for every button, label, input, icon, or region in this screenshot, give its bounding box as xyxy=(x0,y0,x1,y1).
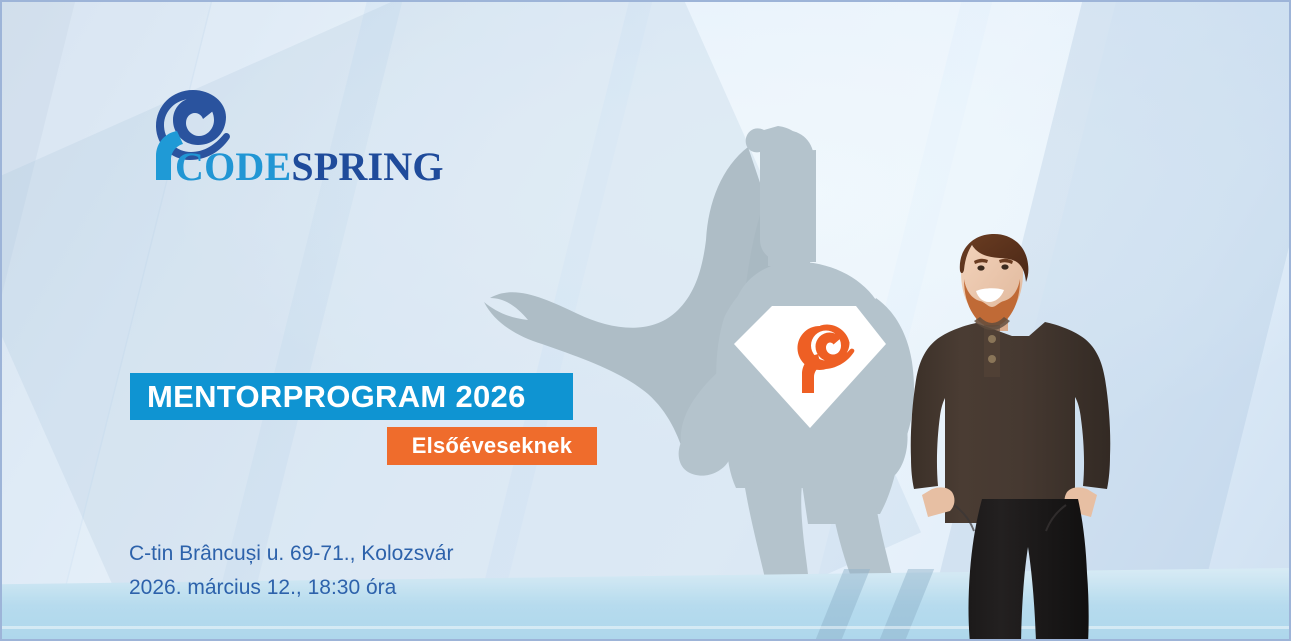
man-shirt-button-top xyxy=(988,335,996,343)
event-datetime: 2026. március 12., 18:30 óra xyxy=(129,571,453,605)
main-title-banner: MENTORPROGRAM 2026 xyxy=(130,373,573,420)
man-eye-right xyxy=(1001,264,1008,269)
main-title-text: MENTORPROGRAM 2026 xyxy=(130,379,526,415)
subtitle-text: Elsőéveseknek xyxy=(412,433,572,459)
event-details: C-tin Brâncuși u. 69-71., Kolozsvár 2026… xyxy=(129,537,453,605)
event-location: C-tin Brâncuși u. 69-71., Kolozsvár xyxy=(129,537,453,571)
man-head xyxy=(960,234,1029,331)
codespring-logo[interactable]: CODESPRING xyxy=(150,88,390,188)
poster-canvas: CODESPRING MENTORPROGRAM 2026 Elsőévesek… xyxy=(0,0,1291,641)
subtitle-banner: Elsőéveseknek xyxy=(387,427,597,465)
man-shirt-button-bottom xyxy=(988,355,996,363)
logo-word-code: CODE xyxy=(175,144,291,189)
logo-word-spring: SPRING xyxy=(291,144,443,189)
smiling-man-photo xyxy=(902,227,1117,641)
codespring-wordmark: CODESPRING xyxy=(175,147,444,187)
man-shirt-placket xyxy=(984,325,1000,377)
man-eye-left xyxy=(977,265,984,270)
